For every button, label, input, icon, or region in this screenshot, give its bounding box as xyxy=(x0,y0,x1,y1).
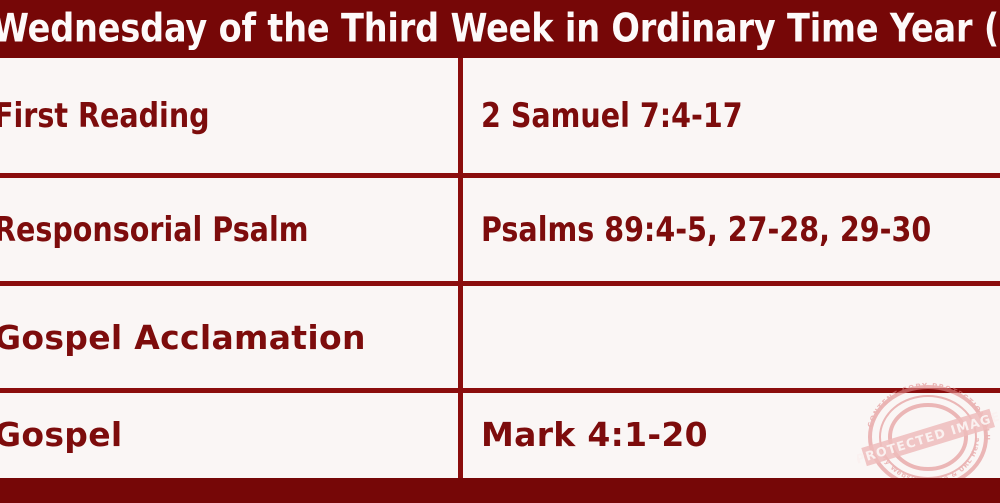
reading-reference-text: Psalms 89:4-5, 27-28, 29-30 xyxy=(481,213,931,249)
reading-reference-text: Mark 4:1-20 xyxy=(481,418,708,453)
reading-type-label: Responsorial Psalm xyxy=(0,213,309,249)
reading-reference-cell: 2 Samuel 7:4-17 xyxy=(463,58,1000,175)
readings-table: First Reading 2 Samuel 7:4-17 Responsori… xyxy=(0,58,1000,478)
reading-reference-cell: Mark 4:1-20 xyxy=(463,393,1000,478)
reading-reference-cell xyxy=(463,286,1000,390)
reading-type-label: First Reading xyxy=(0,99,210,135)
reading-reference-cell: Psalms 89:4-5, 27-28, 29-30 xyxy=(463,178,1000,283)
reading-type-cell: First Reading xyxy=(0,58,458,175)
table-row: Responsorial Psalm Psalms 89:4-5, 27-28,… xyxy=(0,178,1000,283)
page-title: Wednesday of the Third Week in Ordinary … xyxy=(0,10,1000,49)
footer-band xyxy=(0,478,1000,503)
reading-type-cell: Gospel xyxy=(0,393,458,478)
table-row: First Reading 2 Samuel 7:4-17 xyxy=(0,58,1000,175)
reading-type-label: Gospel xyxy=(0,418,123,453)
reading-type-cell: Gospel Acclamation xyxy=(0,286,458,390)
reading-type-cell: Responsorial Psalm xyxy=(0,178,458,283)
reading-type-label: Gospel Acclamation xyxy=(0,321,366,356)
table-row: Gospel Mark 4:1-20 xyxy=(0,393,1000,478)
reading-reference-text: 2 Samuel 7:4-17 xyxy=(481,99,743,135)
lectionary-readings-card: Wednesday of the Third Week in Ordinary … xyxy=(0,0,1000,503)
table-row: Gospel Acclamation xyxy=(0,286,1000,390)
header-band: Wednesday of the Third Week in Ordinary … xyxy=(0,0,1000,58)
